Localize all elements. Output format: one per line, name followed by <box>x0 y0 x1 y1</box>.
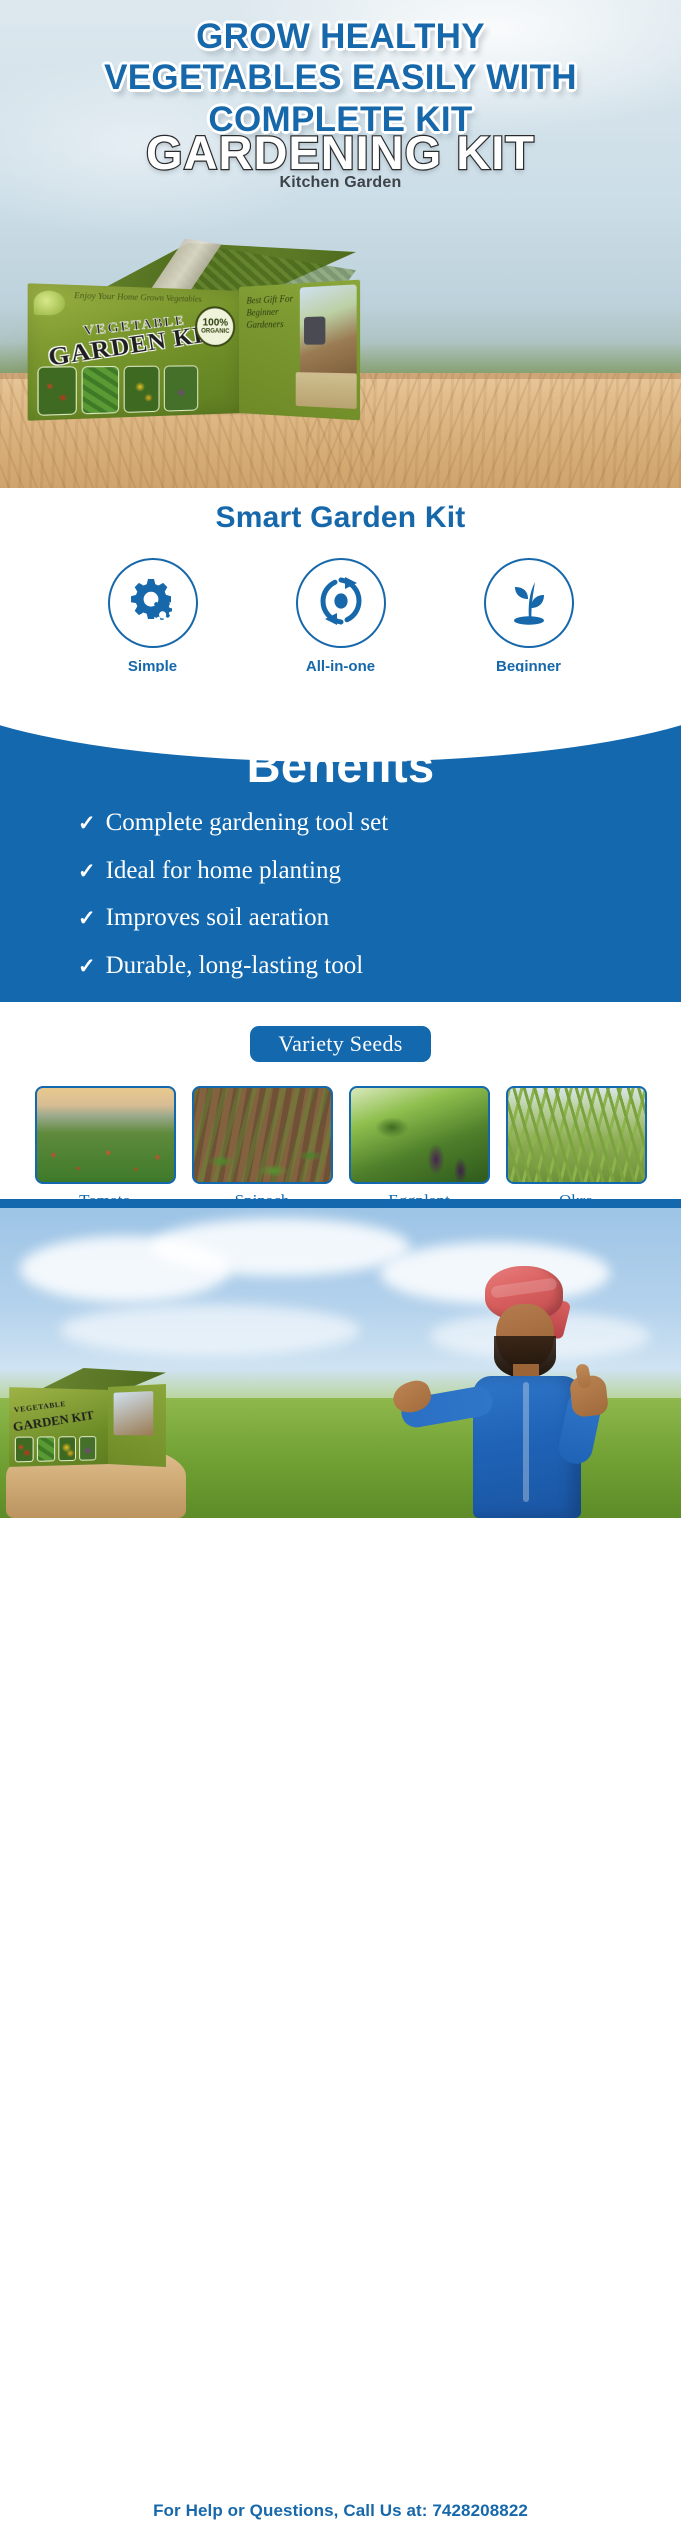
organic-badge: 100% ORGANIC <box>195 306 235 347</box>
seed-image-tomato <box>35 1086 176 1184</box>
thumbnail-spinach <box>37 1436 55 1461</box>
organic-badge-word: ORGANIC <box>201 328 229 334</box>
check-icon: ✓ <box>78 860 96 883</box>
thumbnail-tomato <box>15 1437 34 1463</box>
box-side-panel <box>108 1384 166 1467</box>
hero-headline: GROW HEALTHY VEGETABLES EASILY WITH COMP… <box>0 16 681 140</box>
page-title: GARDENING KIT <box>0 125 681 180</box>
footer-contact-bar: For Help or Questions, Call Us at: 74282… <box>0 2490 681 2532</box>
seed-image-spinach <box>192 1086 333 1184</box>
box-side-band <box>296 372 357 409</box>
hero-section: GROW HEALTHY VEGETABLES EASILY WITH COMP… <box>0 0 681 488</box>
lifestyle-photo-section: VEGETABLE GARDEN KIT <box>0 1208 681 1518</box>
benefit-item: ✓ Ideal for home planting <box>78 857 681 885</box>
brand-leaf-logo-icon <box>34 290 65 315</box>
box-front-panel: VEGETABLE GARDEN KIT <box>9 1387 110 1467</box>
box-vegetable-thumbnails <box>37 365 198 416</box>
page-subtitle: Kitchen Garden <box>0 174 681 192</box>
box-side-photo <box>114 1391 154 1436</box>
thumbnail-pepper <box>58 1436 76 1461</box>
benefits-title: Benefits <box>0 712 681 793</box>
seed-image-okra <box>506 1086 647 1184</box>
headline-line-1: GROW HEALTHY <box>0 16 681 57</box>
kurta-placket <box>523 1382 529 1502</box>
thumbnail-eggplant <box>79 1436 96 1461</box>
seed-card-okra[interactable]: Okra <box>506 1086 647 1211</box>
thumbnail-eggplant <box>164 365 198 411</box>
benefit-text: Complete gardening tool set <box>106 809 389 837</box>
seed-card-tomato[interactable]: Tomato <box>35 1086 176 1211</box>
check-icon: ✓ <box>78 812 96 835</box>
seed-card-eggplant[interactable]: Eggplant <box>349 1086 490 1211</box>
seed-card-row: Tomato Spinach Eggplant Okra <box>0 1086 681 1211</box>
check-icon: ✓ <box>78 955 96 978</box>
thumbnail-pepper <box>124 366 160 413</box>
benefit-item: ✓ Complete gardening tool set <box>78 809 681 837</box>
benefit-item: ✓ Durable, long-lasting tool <box>78 952 681 980</box>
benefit-text: Improves soil aeration <box>106 904 330 932</box>
headline-line-2: VEGETABLES EASILY WITH <box>0 57 681 98</box>
box-vegetable-thumbnails <box>15 1436 96 1462</box>
cloud <box>60 1304 360 1356</box>
product-box-photo: Enjoy Your Home Grown Vegetables VEGETAB… <box>46 243 356 413</box>
feature-icon-circle <box>296 558 386 648</box>
benefits-section: Benefits ✓ Complete gardening tool set ✓… <box>0 712 681 1002</box>
footer-contact-text: For Help or Questions, Call Us at: 74282… <box>153 2501 528 2521</box>
presenter-person <box>395 1260 645 1518</box>
infographic-page: GROW HEALTHY VEGETABLES EASILY WITH COMP… <box>0 0 681 2532</box>
variety-seeds-badge: Variety Seeds <box>250 1026 430 1062</box>
benefits-list: ✓ Complete gardening tool set ✓ Ideal fo… <box>0 809 681 979</box>
box-script-tagline: Enjoy Your Home Grown Vegetables <box>73 290 202 305</box>
feature-icon-circle <box>108 558 198 648</box>
benefit-text: Ideal for home planting <box>106 857 341 885</box>
thumbnail-spinach <box>82 366 120 414</box>
gears-icon <box>126 575 180 632</box>
box-front-panel: Enjoy Your Home Grown Vegetables VEGETAB… <box>28 283 242 421</box>
recycle-icon <box>314 574 368 633</box>
benefit-text: Durable, long-lasting tool <box>106 952 364 980</box>
organic-badge-percent: 100% <box>202 318 228 329</box>
lifestyle-product-box: VEGETABLE GARDEN KIT <box>14 1368 166 1466</box>
cloud <box>150 1218 410 1276</box>
variety-seeds-section: Variety Seeds Tomato Spinach Eggplant Ok… <box>0 1002 681 1199</box>
sprout-icon <box>502 575 556 632</box>
box-side-panel: Best Gift For Beginner Gardeners <box>239 280 360 421</box>
thumbnail-tomato <box>37 366 76 416</box>
benefit-item: ✓ Improves soil aeration <box>78 904 681 932</box>
feature-icon-circle <box>484 558 574 648</box>
seed-image-eggplant <box>349 1086 490 1184</box>
check-icon: ✓ <box>78 907 96 930</box>
box-side-photo <box>300 284 357 375</box>
seed-card-spinach[interactable]: Spinach <box>192 1086 333 1211</box>
smart-section-title: Smart Garden Kit <box>0 501 681 535</box>
